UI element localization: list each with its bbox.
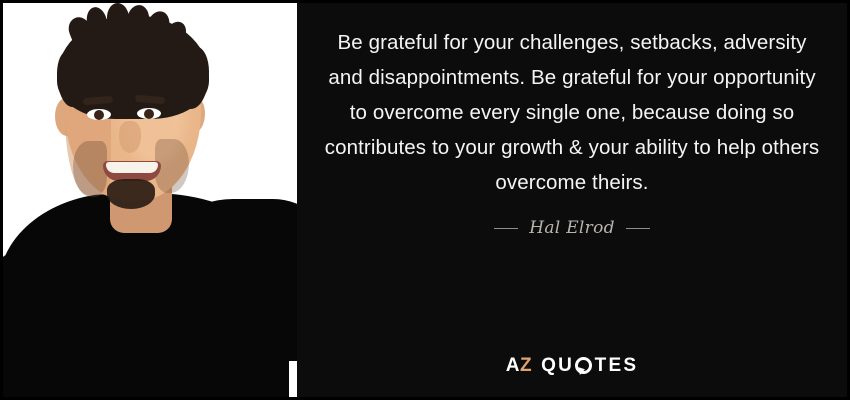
quote-card: Be grateful for your challenges, setback… — [0, 0, 850, 400]
eye-right-shape — [137, 108, 161, 119]
pupil-shape — [144, 109, 154, 119]
logo-letter-a: A — [506, 355, 520, 376]
dash-right-icon — [626, 228, 650, 229]
mouth-shape — [103, 161, 161, 181]
author-name[interactable]: Hal Elrod — [529, 218, 615, 238]
shoulder-left-shape — [3, 239, 143, 397]
az-quotes-logo[interactable]: AZ QU TES — [297, 356, 847, 375]
sideburn-right-shape — [179, 47, 209, 109]
attribution: Hal Elrod — [494, 218, 650, 238]
author-photo-pane[interactable] — [3, 3, 297, 397]
author-portrait-image — [3, 3, 297, 397]
pupil-shape — [94, 110, 104, 120]
quote-text: Be grateful for your challenges, setback… — [319, 25, 825, 200]
shoulder-right-shape — [153, 199, 297, 397]
stubble-left-shape — [73, 141, 107, 197]
teeth-shape — [106, 162, 158, 173]
quote-pane: Be grateful for your challenges, setback… — [297, 3, 847, 397]
logo-quotes-part-1: QU — [541, 356, 574, 375]
logo-quotes-part-2: TES — [595, 356, 639, 375]
logo-quotes-word: QU TES — [541, 356, 638, 375]
eye-left-shape — [87, 109, 111, 120]
dash-left-icon — [494, 228, 518, 229]
speech-bubble-icon — [575, 357, 592, 374]
nose-shape — [119, 121, 141, 153]
logo-az-group: AZ — [506, 356, 532, 375]
goatee-shape — [107, 179, 155, 209]
logo-letter-z: Z — [520, 355, 532, 376]
photo-edge-sliver — [289, 361, 297, 397]
